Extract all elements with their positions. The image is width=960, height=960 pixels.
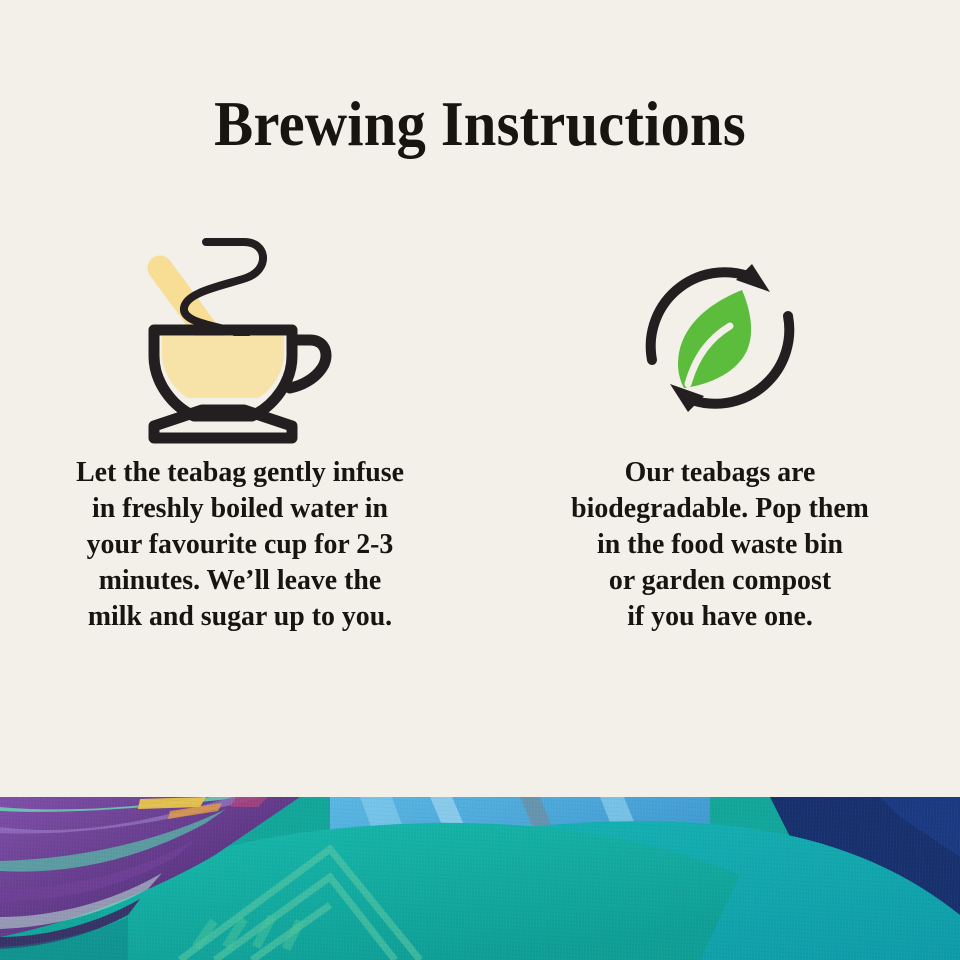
instruction-text-brewing: Let the teabag gently infuse in freshly … — [29, 454, 451, 634]
tea-fill — [162, 336, 284, 398]
instruction-column-brewing: Let the teabag gently infuse in freshly … — [0, 222, 480, 634]
page-title: Brewing Instructions — [34, 88, 927, 160]
instruction-columns: Let the teabag gently infuse in freshly … — [0, 222, 960, 634]
recycle-leaf-icon — [630, 222, 810, 454]
leaf-icon — [678, 290, 751, 388]
instruction-column-disposal: Our teabags are biodegradable. Pop them … — [480, 222, 960, 634]
brewing-instructions-card: Brewing Instructions — [0, 0, 960, 960]
teacup-with-steam-icon — [140, 222, 340, 454]
title-section: Brewing Instructions — [0, 88, 960, 160]
saucer-icon — [154, 410, 292, 438]
abstract-painted-band — [0, 797, 960, 960]
instruction-text-disposal: Our teabags are biodegradable. Pop them … — [509, 454, 931, 634]
